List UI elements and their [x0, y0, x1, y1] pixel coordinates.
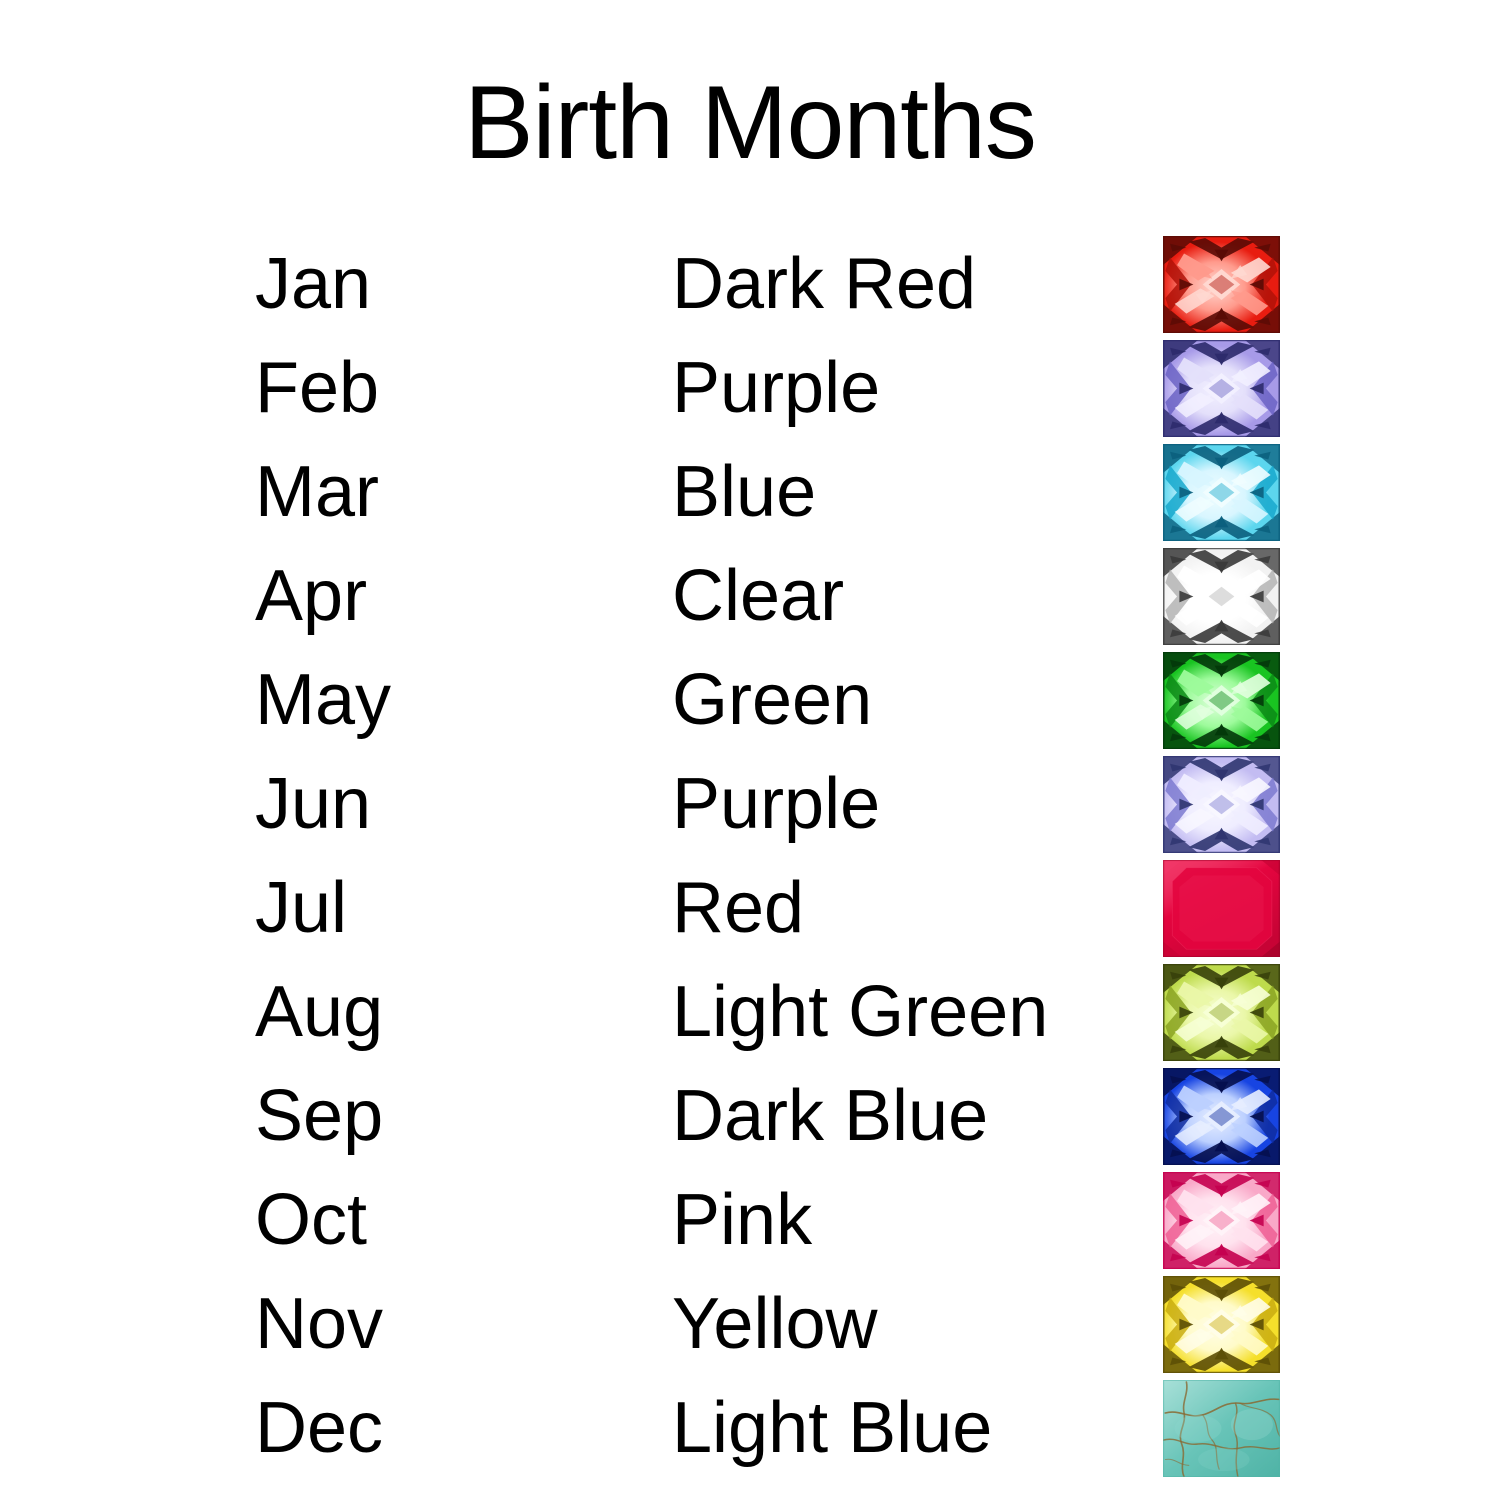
- gemstone-sapphire-icon: [1163, 1068, 1280, 1165]
- month-label: Jan: [255, 232, 371, 336]
- color-label: Dark Blue: [672, 1064, 988, 1168]
- color-label: Pink: [672, 1168, 812, 1272]
- month-label: Aug: [255, 960, 383, 1064]
- month-label: Nov: [255, 1272, 383, 1376]
- month-label: Jun: [255, 752, 371, 856]
- page-title: Birth Months: [0, 68, 1500, 178]
- table-row: JunPurple: [0, 752, 1500, 856]
- gemstone-garnet-icon: [1163, 236, 1280, 333]
- gemstone-amethyst-icon: [1163, 340, 1280, 437]
- month-label: Apr: [255, 544, 367, 648]
- table-row: NovYellow: [0, 1272, 1500, 1376]
- gemstone-swatch: [1163, 652, 1280, 749]
- month-label: May: [255, 648, 391, 752]
- gemstone-peridot-icon: [1163, 964, 1280, 1061]
- month-label: Oct: [255, 1168, 367, 1272]
- month-label: Jul: [255, 856, 347, 960]
- color-label: Clear: [672, 544, 844, 648]
- gemstone-swatch: [1163, 1068, 1280, 1165]
- gemstone-diamond-icon: [1163, 548, 1280, 645]
- month-label: Dec: [255, 1376, 383, 1480]
- color-label: Red: [672, 856, 804, 960]
- table-row: AugLight Green: [0, 960, 1500, 1064]
- gemstone-swatch: [1163, 548, 1280, 645]
- gemstone-tourmaline-icon: [1163, 1172, 1280, 1269]
- gemstone-swatch: [1163, 340, 1280, 437]
- gemstone-swatch: [1163, 236, 1280, 333]
- gemstone-topaz-icon: [1163, 1276, 1280, 1373]
- table-row: AprClear: [0, 544, 1500, 648]
- table-row: MayGreen: [0, 648, 1500, 752]
- table-row: JulRed: [0, 856, 1500, 960]
- gemstone-turquoise-icon: [1163, 1380, 1280, 1477]
- birthstone-chart-page: Birth Months JanDark RedFebPurpleMarBlue…: [0, 0, 1500, 1500]
- gemstone-swatch: [1163, 444, 1280, 541]
- month-label: Mar: [255, 440, 379, 544]
- color-label: Dark Red: [672, 232, 976, 336]
- table-row: MarBlue: [0, 440, 1500, 544]
- month-label: Feb: [255, 336, 379, 440]
- gemstone-emerald-icon: [1163, 652, 1280, 749]
- table-row: SepDark Blue: [0, 1064, 1500, 1168]
- month-label: Sep: [255, 1064, 383, 1168]
- gemstone-swatch: [1163, 1276, 1280, 1373]
- gemstone-swatch: [1163, 964, 1280, 1061]
- birth-months-table: JanDark RedFebPurpleMarBlueAprClearMayGr…: [0, 232, 1500, 1480]
- gemstone-swatch: [1163, 756, 1280, 853]
- color-label: Purple: [672, 752, 880, 856]
- gemstone-swatch: [1163, 1380, 1280, 1477]
- table-row: FebPurple: [0, 336, 1500, 440]
- gemstone-swatch: [1163, 860, 1280, 957]
- color-label: Purple: [672, 336, 880, 440]
- table-row: OctPink: [0, 1168, 1500, 1272]
- gemstone-alexandrite-icon: [1163, 756, 1280, 853]
- gemstone-aquamarine-icon: [1163, 444, 1280, 541]
- color-label: Blue: [672, 440, 816, 544]
- color-label: Light Blue: [672, 1376, 992, 1480]
- color-label: Light Green: [672, 960, 1048, 1064]
- table-row: DecLight Blue: [0, 1376, 1500, 1480]
- color-label: Green: [672, 648, 872, 752]
- table-row: JanDark Red: [0, 232, 1500, 336]
- gemstone-ruby-icon: [1163, 860, 1280, 957]
- color-label: Yellow: [672, 1272, 878, 1376]
- gemstone-swatch: [1163, 1172, 1280, 1269]
